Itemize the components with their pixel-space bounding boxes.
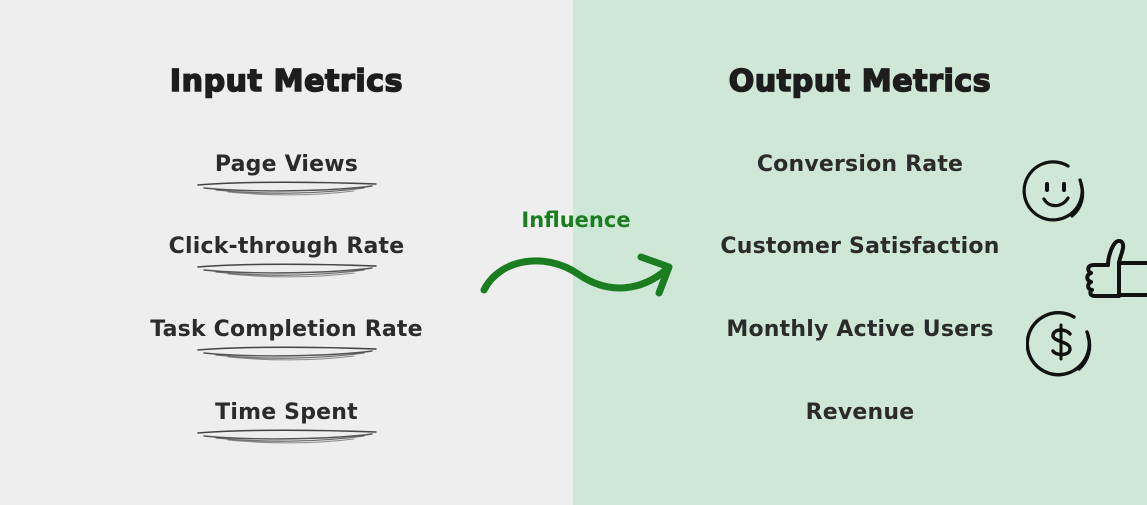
output-metric-label: Revenue: [806, 400, 915, 425]
output-metric-row: Revenue: [573, 400, 1147, 425]
influence-label: Influence: [511, 208, 641, 232]
input-metric-row: Time Spent: [0, 400, 573, 425]
dollar-coin-icon: [1026, 308, 1098, 380]
output-metric-label: Customer Satisfaction: [720, 234, 999, 259]
output-metrics-title: Output Metrics: [573, 64, 1147, 99]
input-metrics-title: Input Metrics: [0, 64, 573, 99]
input-metric-label: Click-through Rate: [169, 234, 405, 259]
sketch-underline: [194, 343, 380, 365]
input-metric-label: Page Views: [215, 152, 358, 177]
sketch-underline: [194, 178, 380, 200]
input-metric-row: Page Views: [0, 152, 573, 177]
thumbs-up-icon: [1078, 232, 1147, 308]
sketch-underline: [194, 426, 380, 448]
input-metric-label: Task Completion Rate: [150, 317, 423, 342]
output-metric-label: Conversion Rate: [757, 152, 963, 177]
sketch-underline: [194, 260, 380, 282]
input-metric-row: Task Completion Rate: [0, 317, 573, 342]
influence-arrow-icon: [470, 236, 690, 308]
diagram-canvas: Input Metrics Page Views Click-through R…: [0, 0, 1147, 505]
input-metric-label: Time Spent: [215, 400, 358, 425]
smiley-face-icon: [1022, 158, 1090, 226]
output-metric-label: Monthly Active Users: [726, 317, 993, 342]
